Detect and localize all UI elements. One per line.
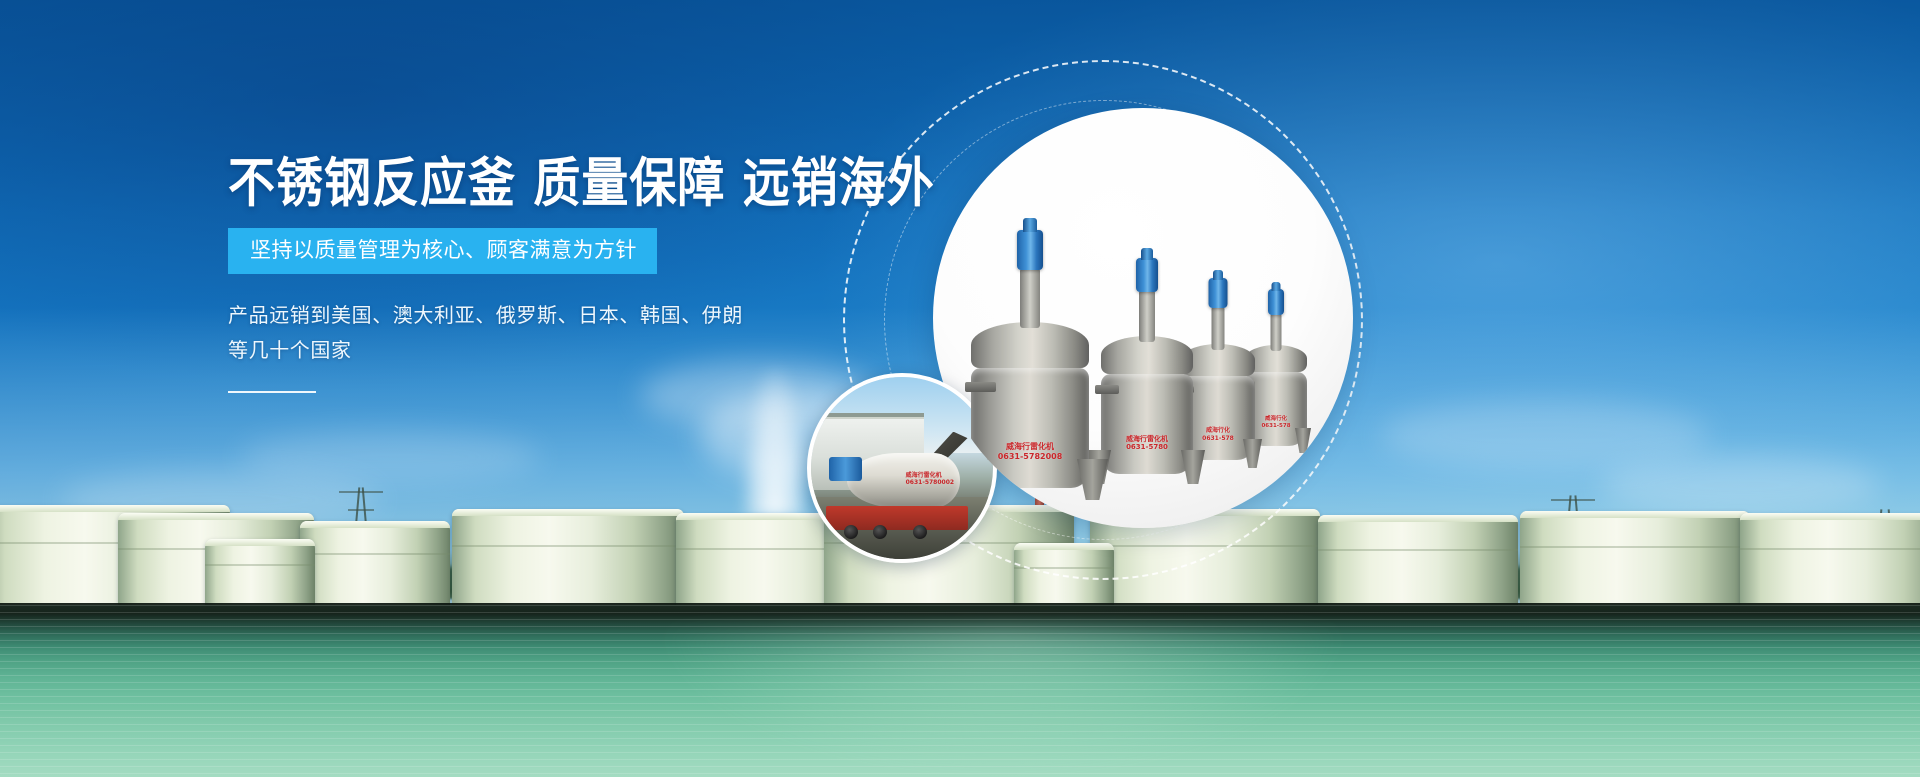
storage-tank: [205, 539, 315, 609]
inset-wheel: [844, 525, 858, 539]
description-line-2: 等几十个国家: [228, 333, 848, 369]
decorative-rule: [228, 391, 316, 393]
vessel-dome: [971, 322, 1089, 368]
vessel-neck: [1212, 306, 1225, 350]
vessel-brand-tag: 威海行化 0631-578: [1261, 416, 1290, 430]
vessel-motor-cap: [1213, 270, 1223, 280]
banner-copy: 不锈钢反应釜 质量保障 远销海外 坚持以质量管理为核心、顾客满意为方针 产品远销…: [228, 156, 848, 393]
vessel-neck: [1020, 268, 1040, 328]
water-surface: [0, 605, 1920, 777]
vessel-support-leg: [1077, 459, 1108, 500]
vessel-agitator-motor: [1268, 289, 1284, 315]
vessel-motor-cap: [1141, 248, 1153, 260]
vessel-support-leg: [1243, 439, 1262, 468]
vessel-neck: [1271, 313, 1282, 351]
vessel-brand-tag: 威海行化 0631-578: [1202, 427, 1234, 442]
storage-tank: [1318, 515, 1518, 609]
storage-tank: [452, 509, 684, 609]
description-line-1: 产品远销到美国、澳大利亚、俄罗斯、日本、韩国、伊朗: [228, 298, 848, 334]
vessel-brand-tag: 威海行雷化机 0631-5780: [1126, 435, 1168, 453]
inset-motor: [829, 457, 862, 481]
product-photo-circle: 威海行雷化机 0631-5782008威海行雷化机 0631-5780威海行化 …: [933, 108, 1353, 528]
vessel-brand-tag: 威海行雷化机 0631-5782008: [998, 442, 1063, 462]
vessel-agitator-motor: [1209, 278, 1228, 308]
water-reflection-glow: [653, 627, 1353, 777]
banner-headline: 不锈钢反应釜 质量保障 远销海外: [228, 156, 848, 212]
vessel-side-port: [1095, 385, 1119, 394]
inset-wheel: [913, 525, 927, 539]
reactor-vessel: 威海行雷化机 0631-5782008: [971, 222, 1089, 488]
inset-wheel: [873, 525, 887, 539]
vessel-motor-cap: [1023, 218, 1037, 232]
inset-vessel-tag: 威海行雷化机 0631-5780002: [906, 472, 954, 486]
vessel-support-leg: [1181, 450, 1205, 484]
vessel-agitator-motor: [1136, 258, 1158, 292]
vessel-agitator-motor: [1017, 230, 1043, 270]
banner-description: 产品远销到美国、澳大利亚、俄罗斯、日本、韩国、伊朗 等几十个国家: [228, 298, 848, 369]
banner-tagline-badge: 坚持以质量管理为核心、顾客满意为方针: [228, 228, 657, 274]
vessel-motor-cap: [1272, 282, 1281, 291]
vessel-neck: [1139, 290, 1155, 342]
reactor-vessel: 威海行雷化机 0631-5780: [1101, 250, 1193, 474]
vessel-side-port: [965, 382, 996, 392]
storage-tank: [1520, 511, 1750, 609]
storage-tank: [300, 521, 450, 609]
hero-banner: 威海行雷化机 0631-5782008威海行雷化机 0631-5780威海行化 …: [0, 0, 1920, 777]
storage-tank: [1740, 513, 1920, 609]
